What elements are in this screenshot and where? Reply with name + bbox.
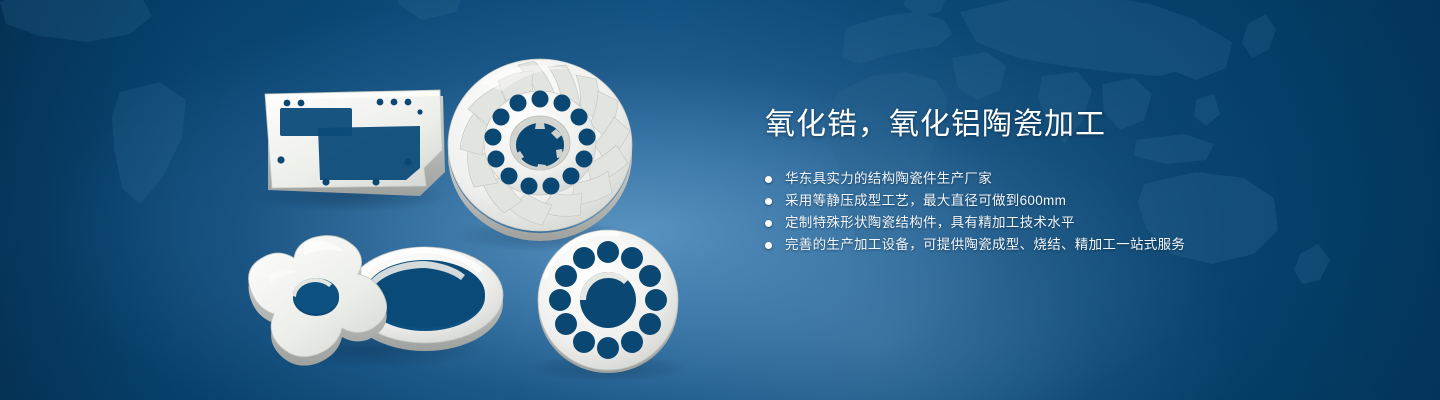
list-item: 华东具实力的结构陶瓷件生产厂家 [765, 168, 1385, 190]
list-item-label: 定制特殊形状陶瓷结构件，具有精加工技术水平 [785, 212, 1075, 234]
ceramic-impeller-part [448, 59, 632, 241]
list-item: 采用等静压成型工艺，最大直径可做到600mm [765, 190, 1385, 212]
bullet-dot-icon [765, 176, 772, 183]
list-item-label: 采用等静压成型工艺，最大直径可做到600mm [785, 190, 1066, 212]
feature-list: 华东具实力的结构陶瓷件生产厂家 采用等静压成型工艺，最大直径可做到600mm 定… [765, 168, 1385, 256]
bullet-dot-icon [765, 198, 772, 205]
list-item: 完善的生产加工设备，可提供陶瓷成型、烧结、精加工一站式服务 [765, 234, 1385, 256]
page-title: 氧化锆，氧化铝陶瓷加工 [765, 104, 1385, 146]
ceramic-plate-part [265, 90, 445, 196]
bullet-dot-icon [765, 220, 772, 227]
banner-text-column: 氧化锆，氧化铝陶瓷加工 华东具实力的结构陶瓷件生产厂家 采用等静压成型工艺，最大… [765, 104, 1385, 256]
list-item-label: 华东具实力的结构陶瓷件生产厂家 [785, 168, 992, 190]
list-item-label: 完善的生产加工设备，可提供陶瓷成型、烧结、精加工一站式服务 [785, 234, 1185, 256]
ceramic-perforated-disc-part [538, 230, 678, 373]
hero-banner: 氧化锆，氧化铝陶瓷加工 华东具实力的结构陶瓷件生产厂家 采用等静压成型工艺，最大… [0, 0, 1440, 400]
list-item: 定制特殊形状陶瓷结构件，具有精加工技术水平 [765, 212, 1385, 234]
bullet-dot-icon [765, 242, 772, 249]
